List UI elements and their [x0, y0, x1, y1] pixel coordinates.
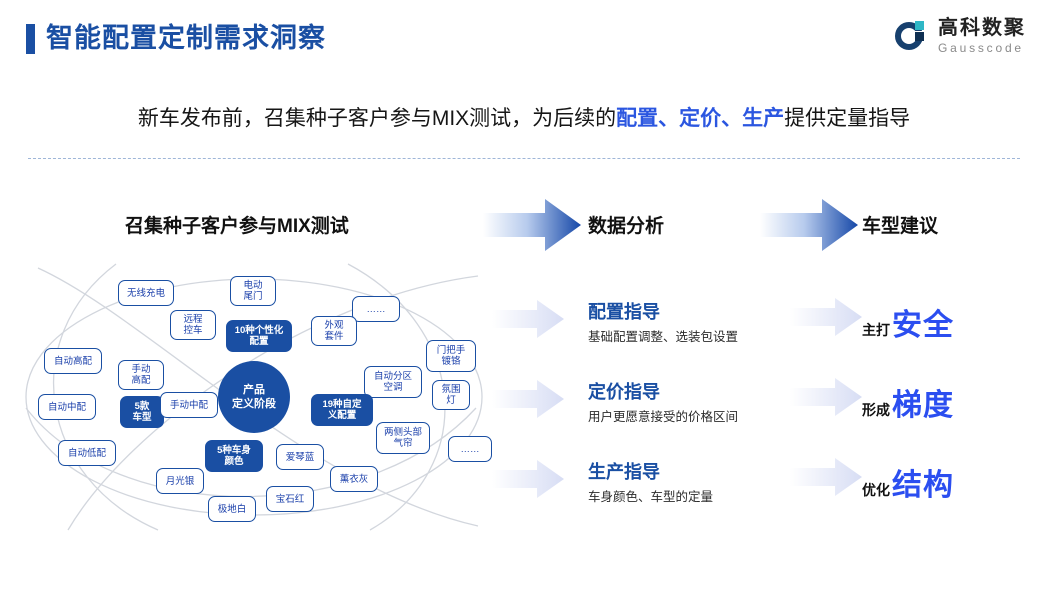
slide-root: 智能配置定制需求洞察 高科数聚 Gausscode 新车发布前，召集种子客户参与…	[0, 0, 1048, 589]
gausscode-logo-icon	[895, 19, 929, 53]
suggestion-row-structure: 优化 结构	[862, 460, 954, 504]
arrow-right-icon-row3-left	[492, 459, 564, 499]
mindmap-node: 自动中配	[38, 394, 96, 420]
analysis-title-2: 定价指导	[588, 380, 738, 404]
analysis-row-pricing: 定价指导 用户更愿意接受的价格区间	[588, 380, 738, 427]
logo-name-en: Gausscode	[938, 42, 1026, 54]
mindmap-hub: 产品 定义阶段	[218, 361, 290, 433]
analysis-sub-1: 基础配置调整、选装包设置	[588, 327, 738, 347]
mindmap-node: 氛围 灯	[432, 380, 470, 410]
mindmap-canvas: 产品 定义阶段 无线充电电动 尾门……远程 控车10种个性化 配置外观 套件门把…	[8, 258, 500, 536]
mindmap-node: 电动 尾门	[230, 276, 276, 306]
analysis-sub-2: 用户更愿意接受的价格区间	[588, 407, 738, 427]
mindmap-node: 爱琴蓝	[276, 444, 324, 470]
logo-text-block: 高科数聚 Gausscode	[938, 18, 1026, 54]
mindmap-node: ……	[352, 296, 400, 322]
mindmap-node: 自动分区 空调	[364, 366, 422, 398]
suggestion-keyword-3: 结构	[892, 460, 954, 504]
page-title: 智能配置定制需求洞察	[46, 21, 326, 55]
arrow-right-icon-row2-left	[492, 379, 564, 419]
suggestion-keyword-2: 梯度	[892, 380, 954, 424]
suggestion-prefix-1: 主打	[862, 320, 890, 340]
mindmap-node: 薰衣灰	[330, 466, 378, 492]
column-header-middle: 数据分析	[588, 211, 664, 238]
mindmap-node: 两侧头部 气帘	[376, 422, 430, 454]
mindmap-node: 月光银	[156, 468, 204, 494]
suggestion-row-tiering: 形成 梯度	[862, 380, 954, 424]
arrow-right-icon-row3-right	[790, 457, 862, 497]
mindmap-node: 极地白	[208, 496, 256, 522]
brand-logo: 高科数聚 Gausscode	[895, 18, 1026, 54]
analysis-row-configuration: 配置指导 基础配置调整、选装包设置	[588, 300, 738, 347]
arrow-right-icon-row1-left	[492, 299, 564, 339]
arrow-right-icon-stage2	[760, 197, 858, 253]
subtitle-part-1: 新车发布前，召集种子客户参与MIX测试，为后续的	[138, 107, 616, 130]
slide-header: 智能配置定制需求洞察 高科数聚 Gausscode	[0, 0, 1048, 72]
mindmap-node: 外观 套件	[311, 316, 357, 346]
mindmap-node: 无线充电	[118, 280, 174, 306]
mindmap-node: 19种自定 义配置	[311, 394, 373, 426]
subtitle-part-2: 提供定量指导	[784, 107, 910, 130]
analysis-title-3: 生产指导	[588, 460, 713, 484]
mindmap-node: 5款 车型	[120, 396, 164, 428]
title-accent-bar	[26, 24, 35, 54]
logo-name-cn: 高科数聚	[938, 18, 1026, 38]
column-header-left: 召集种子客户参与MIX测试	[125, 211, 349, 238]
mindmap-node: 自动低配	[58, 440, 116, 466]
mindmap-node: 手动 高配	[118, 360, 164, 390]
analysis-title-1: 配置指导	[588, 300, 738, 324]
subtitle-highlight: 配置、定价、生产	[616, 107, 784, 130]
mindmap-node: 门把手 镀铬	[426, 340, 476, 372]
mindmap-node: 手动中配	[160, 392, 218, 418]
arrow-right-icon-stage1	[483, 197, 581, 253]
subtitle-line: 新车发布前，召集种子客户参与MIX测试，为后续的配置、定价、生产提供定量指导	[0, 104, 1048, 134]
suggestion-keyword-1: 安全	[892, 300, 954, 344]
mindmap-node: 宝石红	[266, 486, 314, 512]
logo-square-teal	[915, 21, 924, 30]
mindmap-node: ……	[448, 436, 492, 462]
suggestion-row-safety: 主打 安全	[862, 300, 954, 344]
analysis-sub-3: 车身颜色、车型的定量	[588, 487, 713, 507]
suggestion-prefix-3: 优化	[862, 480, 890, 500]
section-divider	[28, 158, 1020, 159]
suggestion-prefix-2: 形成	[862, 400, 890, 420]
mindmap-node: 自动高配	[44, 348, 102, 374]
arrow-right-icon-row2-right	[790, 377, 862, 417]
arrow-right-icon-row1-right	[790, 297, 862, 337]
mindmap-node: 远程 控车	[170, 310, 216, 340]
analysis-row-production: 生产指导 车身颜色、车型的定量	[588, 460, 713, 507]
logo-square-navy	[915, 32, 924, 41]
mindmap-node: 5种车身 颜色	[205, 440, 263, 472]
mindmap-node: 10种个性化 配置	[226, 320, 292, 352]
column-header-right: 车型建议	[862, 211, 938, 238]
